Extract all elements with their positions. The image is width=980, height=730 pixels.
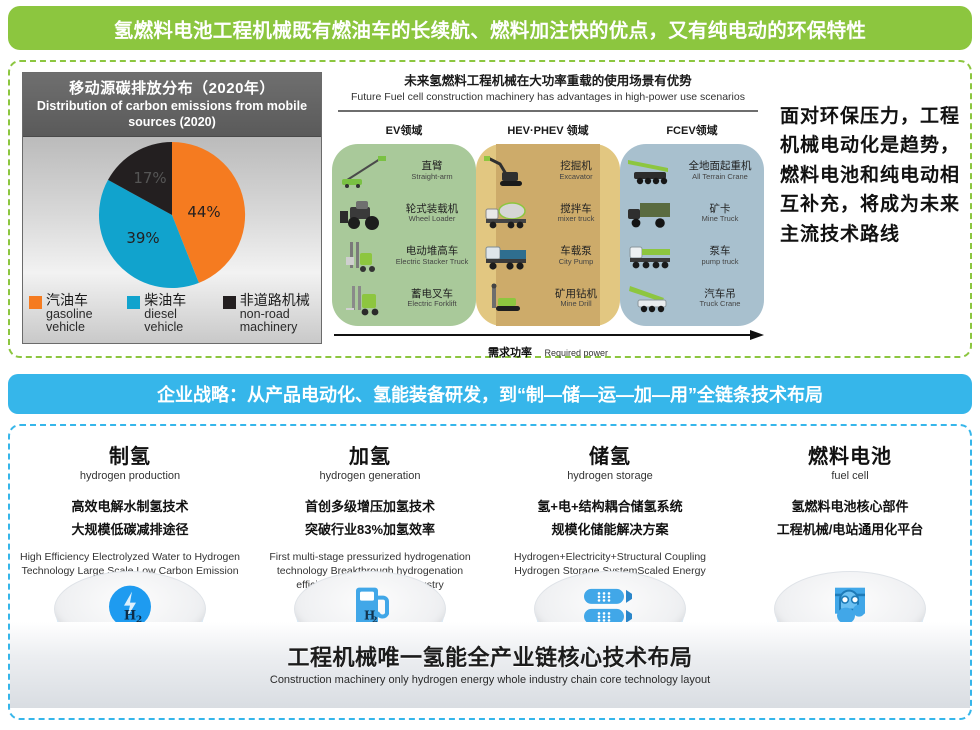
diagram-column-hev-phev: 挖掘机 Excavator (476, 144, 620, 326)
legend-swatch-icon (127, 296, 140, 309)
truck-crane-icon (624, 282, 676, 316)
mixer-truck-icon (480, 197, 532, 231)
chain-bullet-cn: 工程机械/电站通用化平台 (736, 519, 964, 542)
pie-value-label-0: 44% (187, 203, 220, 221)
pie-chart-plot: 44% 39% 17% (23, 139, 321, 294)
chain-bullet-cn: 大规模低碳减排途径 (16, 519, 244, 542)
chain-bullet-cn: 首创多级增压加氢技术 (256, 496, 484, 519)
diagram-title-en: Future Fuel cell construction machinery … (332, 91, 764, 103)
straight-arm-lift-icon (336, 154, 388, 188)
machine-row: 挖掘机 Excavator (480, 151, 616, 191)
required-power-arrow-icon (332, 330, 764, 340)
bottom-caption: 工程机械唯一氢能全产业链核心技术布局 Construction machiner… (10, 640, 970, 686)
green-header-banner: 氢燃料电池工程机械既有燃油车的长续航、燃料加注快的优点，又有纯电动的环保特性 (8, 6, 972, 50)
bottom-panel: 制氢 hydrogen production 高效电解水制氢技术 大规模低碳减排… (8, 424, 972, 720)
machine-row: 汽车吊 Truck Crane (624, 279, 760, 319)
machine-row: 矿卡 Mine Truck (624, 194, 760, 234)
machine-label-en: Straight-arm (392, 173, 472, 181)
wheel-loader-icon (336, 197, 388, 231)
machine-row: 泵车 pump truck (624, 236, 760, 276)
machine-label-en: Excavator (536, 173, 616, 181)
pie-chart-legend: 汽油车 gasoline vehicle 柴油车 diesel vehicle … (23, 293, 321, 335)
machine-row: 搅拌车 mixer truck (480, 194, 616, 234)
insight-text: 面对环保压力，工程机械电动化是趋势，燃料电池和纯电动相互补充，将成为未来主流技术… (780, 102, 966, 249)
legend-label-en: diesel vehicle (144, 308, 216, 336)
blue-banner-text: 企业战略：从产品电动化、氢能装备研发，到“制—储—运—加—用”全链条技术布局 (157, 381, 823, 407)
chain-head-en: hydrogen generation (256, 470, 484, 482)
mine-truck-icon (624, 197, 676, 231)
legend-item: 柴油车 diesel vehicle (127, 293, 216, 335)
pie-title-cn: 移动源碳排放分布（2020年） (29, 77, 315, 98)
machine-label-en: Truck Crane (680, 300, 760, 308)
machine-label-en: Mine Truck (680, 215, 760, 223)
legend-label-cn: 柴油车 (144, 293, 216, 308)
slide-root: 氢燃料电池工程机械既有燃油车的长续航、燃料加注快的优点，又有纯电动的环保特性 移… (0, 0, 980, 730)
machine-row: 电动堆高车 Electric Stacker Truck (336, 236, 472, 276)
legend-item: 非道路机械 non-road machinery (223, 293, 315, 335)
pump-truck-icon (624, 239, 676, 273)
legend-label-cn: 汽油车 (46, 293, 121, 308)
column-header-fcev: FCEV领域 (620, 122, 764, 138)
diagram-column-fcev: 全地面起重机 All Terrain Crane 矿卡 (620, 144, 764, 326)
diagram-divider (338, 110, 758, 112)
column-header-hev-phev: HEV·PHEV 领域 (476, 122, 620, 138)
legend-label-en: non-road machinery (240, 308, 315, 336)
chain-head-en: fuel cell (736, 470, 964, 482)
electric-stacker-icon (336, 239, 388, 273)
legend-label-en: gasoline vehicle (46, 308, 121, 336)
pie-value-label-1: 39% (126, 229, 159, 247)
chain-bullet-cn: 突破行业83%加氢效率 (256, 519, 484, 542)
green-header-text: 氢燃料电池工程机械既有燃油车的长续航、燃料加注快的优点，又有纯电动的环保特性 (114, 14, 866, 43)
machine-label-en: Wheel Loader (392, 215, 472, 223)
machine-row: 矿用钻机 Mine Drill (480, 279, 616, 319)
machine-row: 轮式装载机 Wheel Loader (336, 194, 472, 234)
legend-swatch-icon (29, 296, 42, 309)
diagram-title-cn: 未来氢燃料工程机械在大功率重载的使用场景有优势 (332, 70, 764, 89)
machine-label-en: mixer truck (536, 215, 616, 223)
machine-label-en: City Pump (536, 258, 616, 266)
axis-label-en: Required power (544, 348, 608, 358)
excavator-icon (480, 154, 532, 188)
chain-bullet-cn: 规模化储能解决方案 (496, 519, 724, 542)
power-scenario-diagram: 未来氢燃料工程机械在大功率重载的使用场景有优势 Future Fuel cell… (332, 70, 764, 350)
machine-row: 车载泵 City Pump (480, 236, 616, 276)
chain-head-cn: 制氢 (16, 440, 244, 469)
machine-label-en: Electric Forklift (392, 300, 472, 308)
pie-chart-title: 移动源碳排放分布（2020年） Distribution of carbon e… (23, 73, 321, 137)
axis-label-cn: 需求功率 (488, 347, 532, 359)
machine-label-en: Electric Stacker Truck (392, 258, 472, 266)
top-panel: 移动源碳排放分布（2020年） Distribution of carbon e… (8, 60, 972, 358)
pie-chart-card: 移动源碳排放分布（2020年） Distribution of carbon e… (22, 72, 322, 344)
chain-bullet-cn: 高效电解水制氢技术 (16, 496, 244, 519)
diagram-column-headers: EV领域 HEV·PHEV 领域 FCEV领域 (332, 122, 764, 138)
machine-row: 直臂 Straight-arm (336, 151, 472, 191)
chain-head-cn: 燃料电池 (736, 440, 964, 469)
caption-en: Construction machinery only hydrogen ene… (10, 674, 970, 686)
diagram-title: 未来氢燃料工程机械在大功率重载的使用场景有优势 Future Fuel cell… (332, 70, 764, 103)
machine-row: 全地面起重机 All Terrain Crane (624, 151, 760, 191)
blue-strategy-banner: 企业战略：从产品电动化、氢能装备研发，到“制—储—运—加—用”全链条技术布局 (8, 374, 972, 414)
chain-head-cn: 加氢 (256, 440, 484, 469)
machine-row: 蓄电叉车 Electric Forklift (336, 279, 472, 319)
hydrogen-chain-columns: 制氢 hydrogen production 高效电解水制氢技术 大规模低碳减排… (10, 440, 970, 592)
chain-column-hydrogen-generation: 加氢 hydrogen generation 首创多级增压加氢技术 突破行业83… (250, 440, 490, 592)
column-header-ev: EV领域 (332, 122, 476, 138)
all-terrain-crane-icon (624, 154, 676, 188)
chain-bullet-cn: 氢+电+结构耦合储氢系统 (496, 496, 724, 519)
chain-column-hydrogen-storage: 储氢 hydrogen storage 氢+电+结构耦合储氢系统 规模化储能解决… (490, 440, 730, 592)
diagram-column-ev: 直臂 Straight-arm (332, 144, 476, 326)
required-power-label: 需求功率 Required power (332, 343, 764, 361)
pie-value-label-2: 17% (133, 169, 166, 187)
chain-head-en: hydrogen production (16, 470, 244, 482)
legend-swatch-icon (223, 296, 236, 309)
caption-cn: 工程机械唯一氢能全产业链核心技术布局 (10, 640, 970, 672)
machine-label-en: pump truck (680, 258, 760, 266)
chain-column-fuel-cell: 燃料电池 fuel cell 氢燃料电池核心部件 工程机械/电站通用化平台 (730, 440, 970, 592)
machine-label-en: Mine Drill (536, 300, 616, 308)
diagram-columns: 直臂 Straight-arm (332, 144, 764, 326)
mine-drill-icon (480, 282, 532, 316)
machine-label-en: All Terrain Crane (680, 173, 760, 181)
forklift-icon (336, 282, 388, 316)
chain-bullet-cn: 氢燃料电池核心部件 (736, 496, 964, 519)
chain-head-cn: 储氢 (496, 440, 724, 469)
chain-column-hydrogen-production: 制氢 hydrogen production 高效电解水制氢技术 大规模低碳减排… (10, 440, 250, 592)
chain-head-en: hydrogen storage (496, 470, 724, 482)
legend-item: 汽油车 gasoline vehicle (29, 293, 121, 335)
pie-chart-svg: 44% 39% 17% (72, 139, 272, 291)
city-pump-truck-icon (480, 239, 532, 273)
legend-label-cn: 非道路机械 (240, 293, 315, 308)
pie-title-en: Distribution of carbon emissions from mo… (29, 99, 315, 130)
